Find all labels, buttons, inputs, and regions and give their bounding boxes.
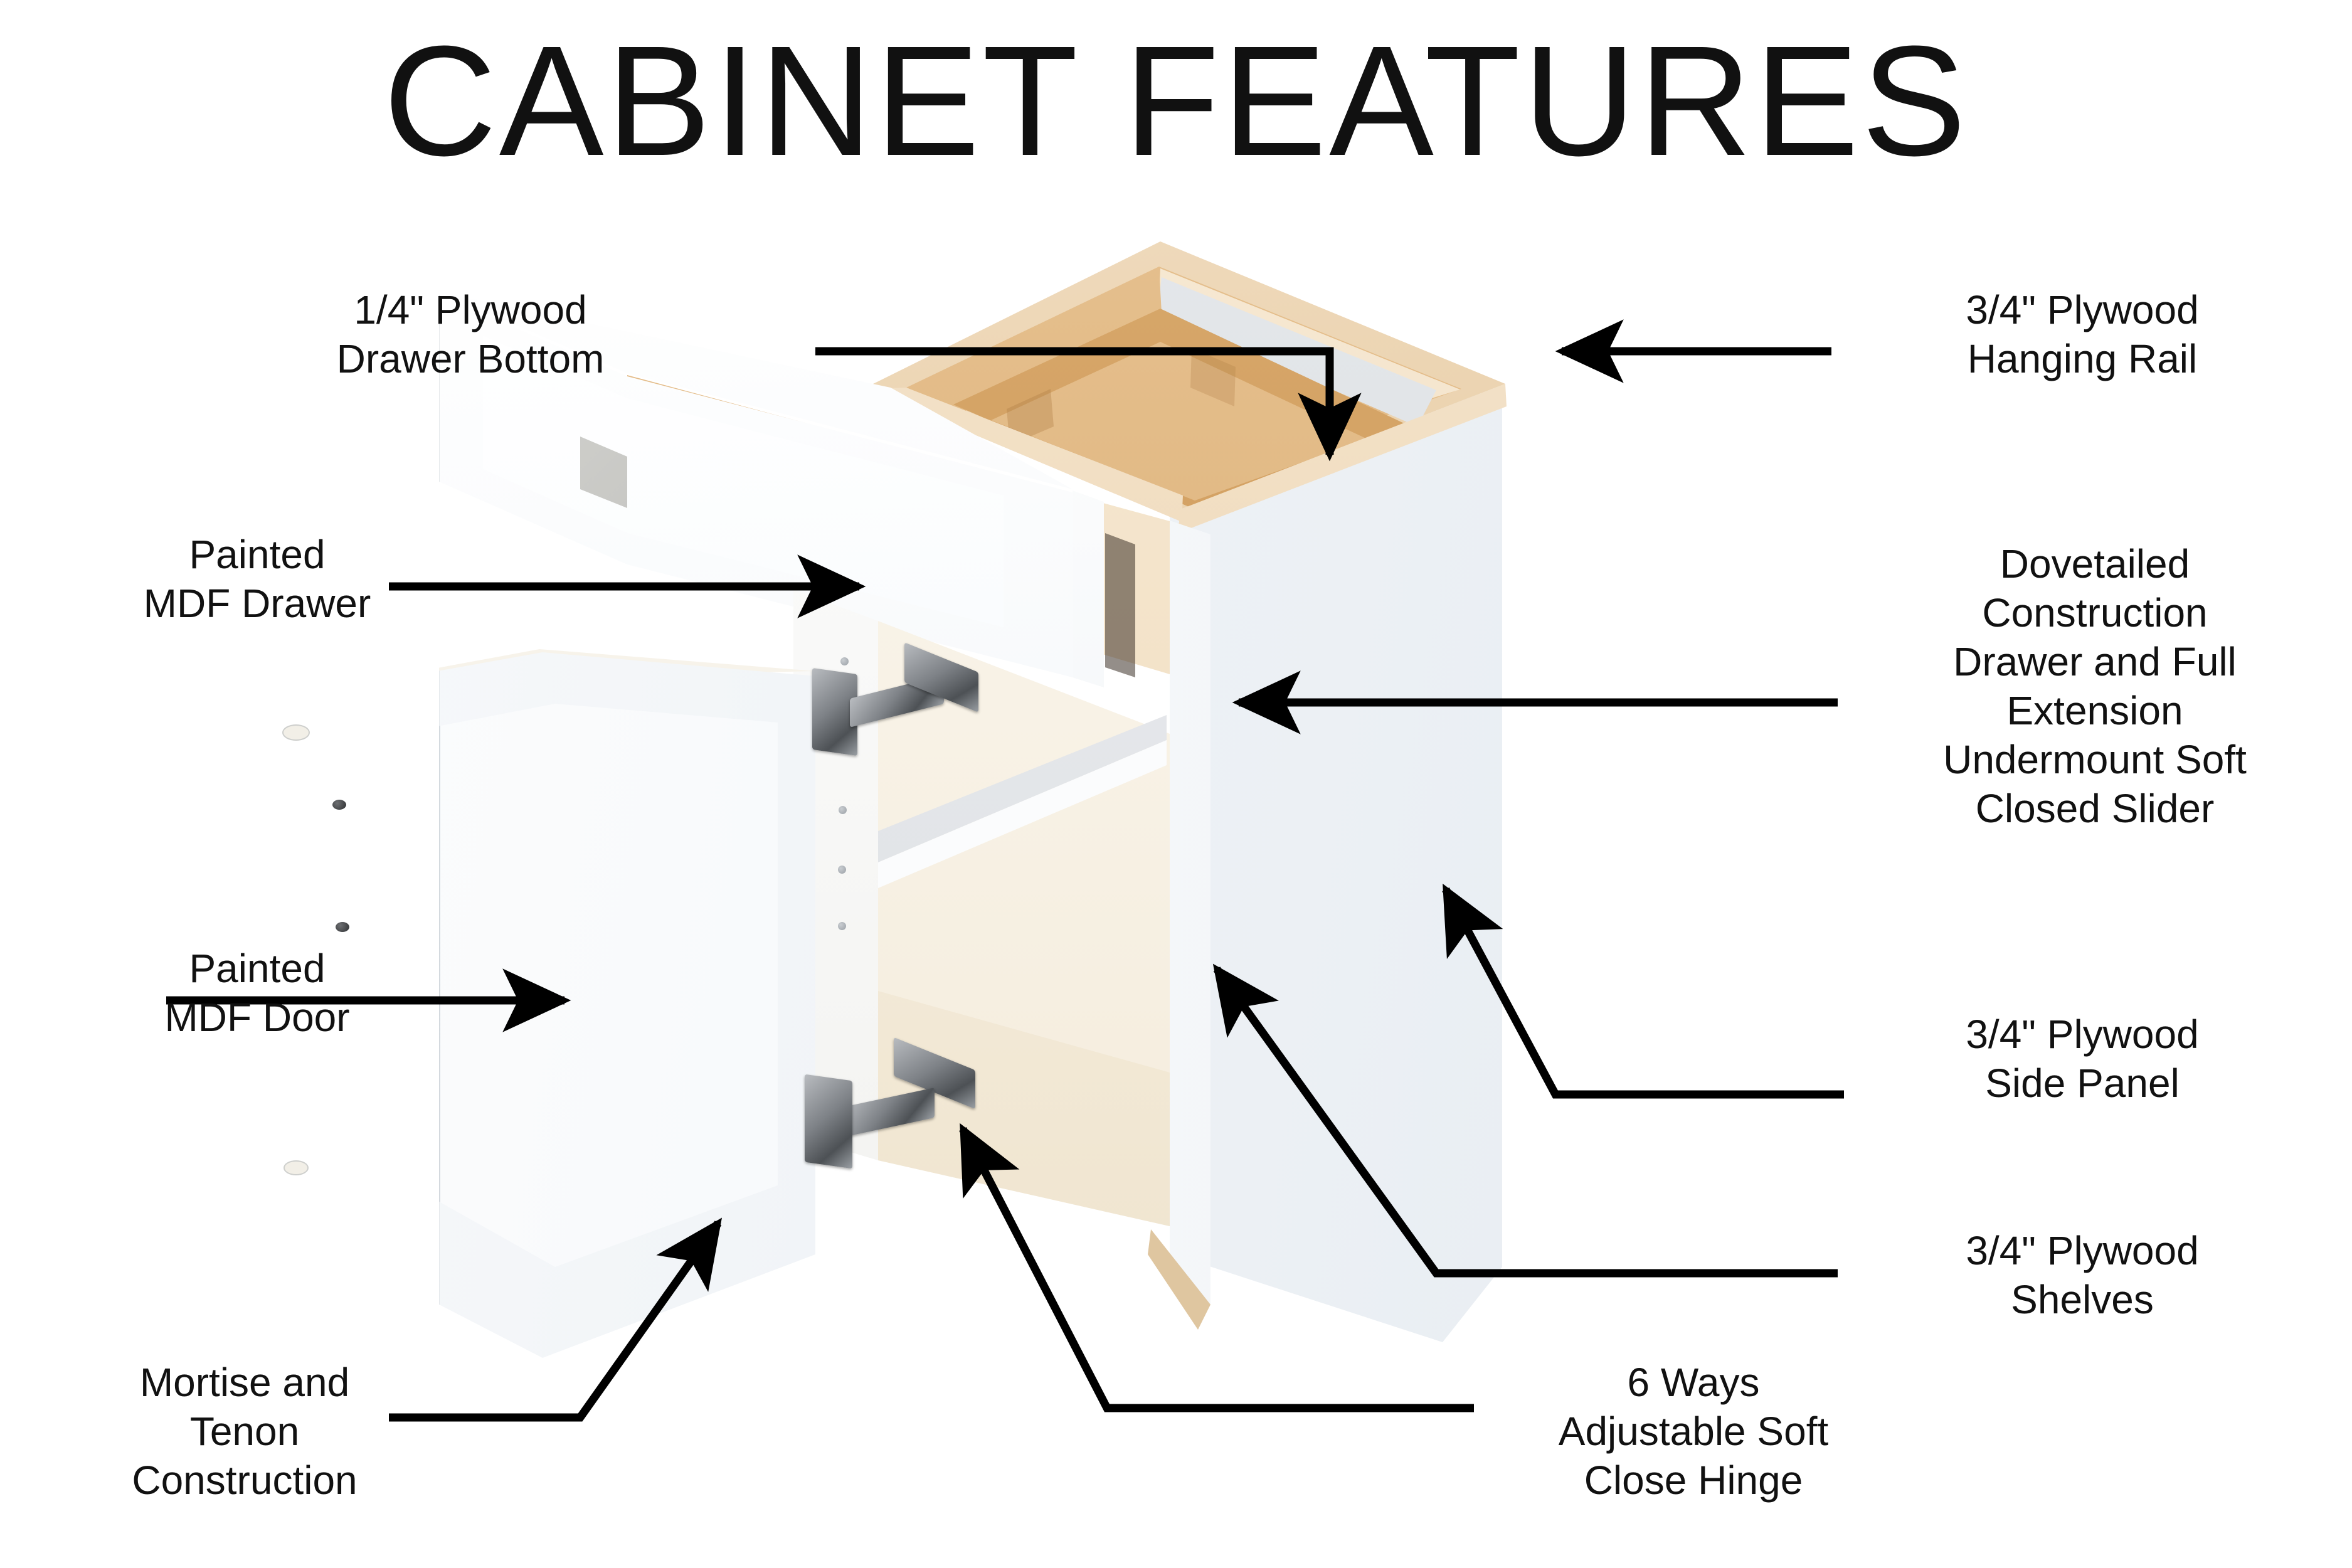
shelf-pin-hole (839, 806, 847, 814)
callout-label-shelves: 3/4" Plywood Shelves (1863, 1226, 2302, 1324)
callout-label-soft-close-hinge: 6 Ways Adjustable Soft Close Hinge (1461, 1358, 1926, 1505)
door-bumper-pad (282, 724, 310, 741)
callout-label-drawer-bottom: 1/4" Plywood Drawer Bottom (251, 285, 690, 383)
callout-label-mortise-tenon: Mortise and Tenon Construction (25, 1358, 464, 1505)
callout-label-side-panel: 3/4" Plywood Side Panel (1863, 1010, 2302, 1108)
callout-label-painted-mdf-door: Painted MDF Door (38, 944, 477, 1042)
callout-label-painted-mdf-drawer: Painted MDF Drawer (38, 530, 477, 628)
poster-canvas: CABINET FEATURES (0, 0, 2352, 1568)
shelf-pin-hole (838, 866, 846, 874)
door-hinge-screw (336, 922, 349, 932)
callout-label-dovetail-slider: Dovetailed Construction Drawer and Full … (1857, 539, 2333, 833)
lower-door-hinge-cup (805, 1074, 852, 1169)
door-hinge-screw (332, 800, 346, 810)
page-title: CABINET FEATURES (0, 19, 2352, 184)
shelf-pin-hole (838, 922, 846, 930)
cabinet-illustration (439, 238, 1850, 1455)
door-bumper-pad (283, 1160, 309, 1175)
shelf-pin-hole (840, 657, 849, 665)
callout-label-hanging-rail: 3/4" Plywood Hanging Rail (1863, 285, 2302, 383)
